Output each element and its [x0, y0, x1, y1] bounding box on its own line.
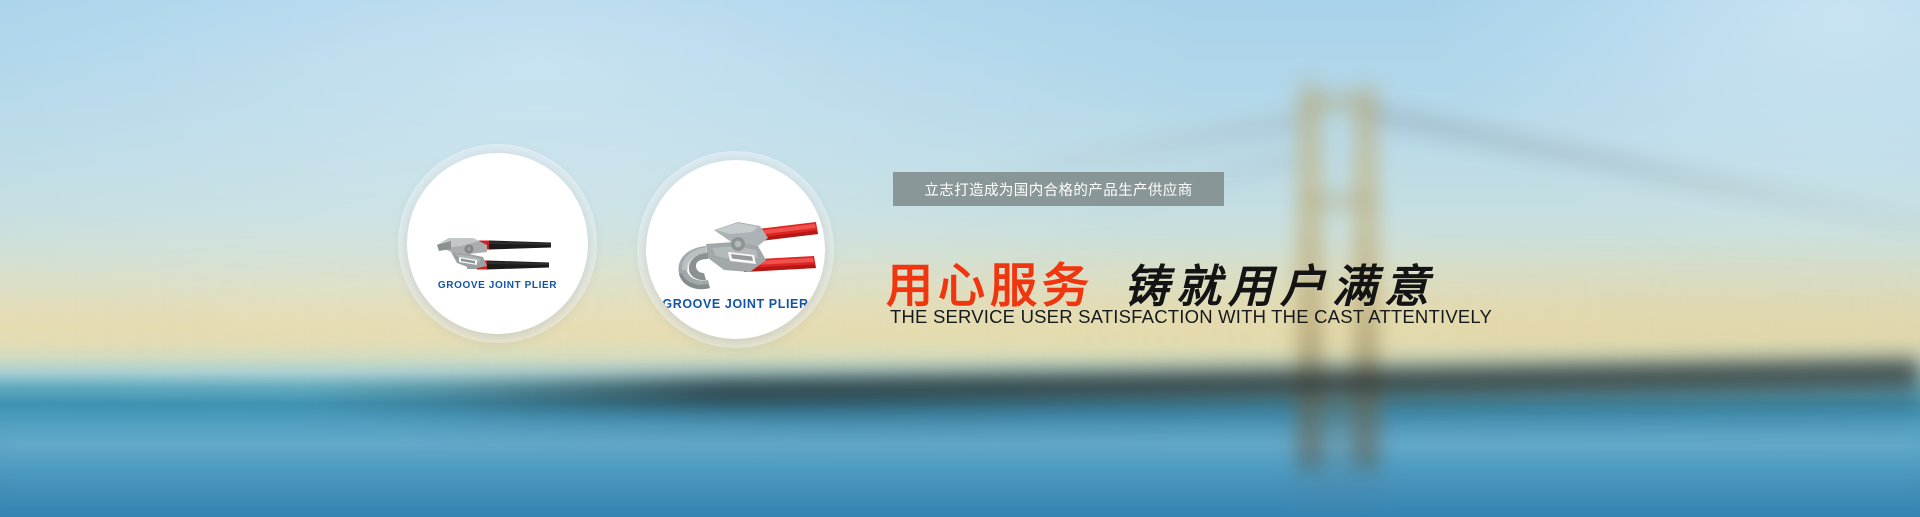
bridge-tower-crossbeam-top	[1300, 96, 1376, 109]
caption-bar: 立志打造成为国内合格的产品生产供应商	[893, 172, 1224, 206]
headline-subtitle: THE SERVICE USER SATISFACTION WITH THE C…	[890, 306, 1492, 328]
hero-banner: GROOVE JOINT PLIER	[0, 0, 1920, 517]
caption-bar-text: 立志打造成为国内合格的产品生产供应商	[924, 179, 1192, 200]
bridge-cable-right	[1362, 104, 1920, 247]
product-label-1: GROOVE JOINT PLIER	[407, 280, 588, 291]
groove-joint-plier-red-icon	[646, 160, 825, 339]
water-highlight-band-2	[0, 478, 1920, 496]
product-label-2: GROOVE JOINT PLIER	[646, 297, 825, 311]
product-circle-2[interactable]: GROOVE JOINT PLIER	[646, 160, 825, 339]
product-circle-1[interactable]: GROOVE JOINT PLIER	[407, 153, 588, 334]
water-highlight-band-1	[0, 430, 1920, 456]
bridge-tower-crossbeam-mid	[1300, 196, 1376, 206]
groove-joint-plier-black-icon	[407, 153, 588, 334]
